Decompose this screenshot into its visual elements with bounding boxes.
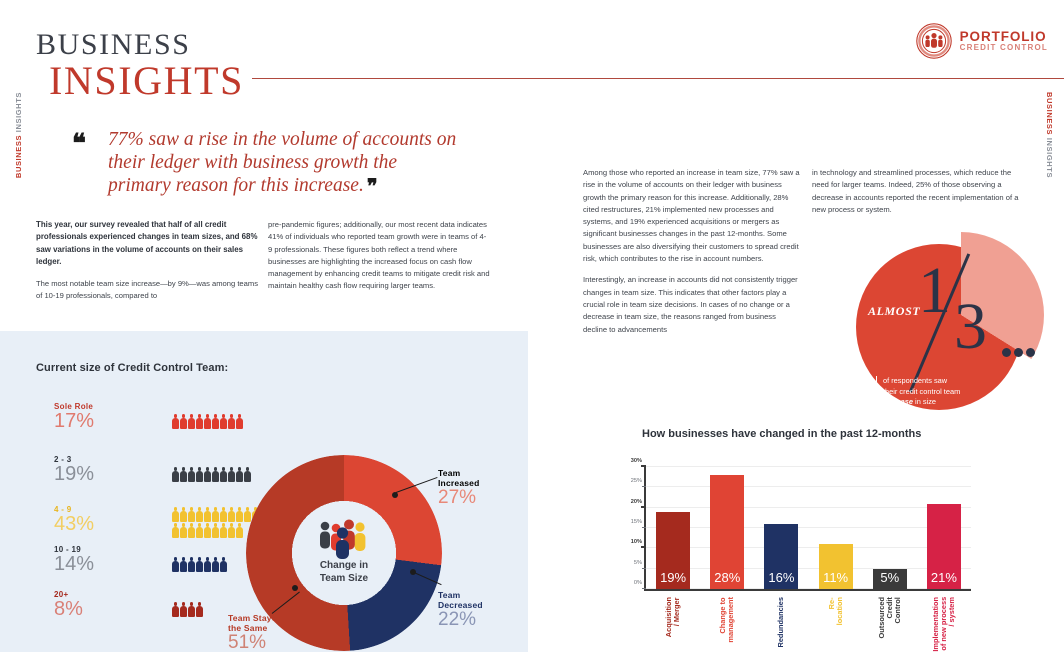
panel-title: Current size of Credit Control Team: <box>36 361 228 375</box>
bar-category-label: Outsourced Credit Control <box>878 597 902 638</box>
pictogram-row-value: 17% <box>54 411 94 432</box>
pictogram-row: 10 - 1914% <box>54 545 94 575</box>
pictogram-row-value: 43% <box>54 514 94 535</box>
y-axis-tick-label: 20% <box>631 499 642 505</box>
person-icon <box>188 602 195 617</box>
bar-value-label: 21% <box>927 570 961 585</box>
person-icon <box>180 557 187 572</box>
callout-decreased-value: 22% <box>438 610 483 631</box>
page-title-line2: INSIGHTS <box>49 57 244 104</box>
callout-stayed-label: Team Stayed the Same <box>228 613 282 633</box>
bar-value-label: 16% <box>764 570 798 585</box>
person-icon <box>204 414 211 429</box>
person-icon <box>220 557 227 572</box>
bar-value-label: 11% <box>819 570 853 585</box>
pull-quote-text: 77% saw a rise in the volume of accounts… <box>78 128 458 200</box>
person-icon <box>180 523 187 538</box>
person-icon <box>172 414 179 429</box>
person-icon <box>172 523 179 538</box>
side-tab-right-bold: BUSINESS <box>1045 92 1054 135</box>
pictogram-row-value: 8% <box>54 599 83 620</box>
pictogram-figures <box>172 414 276 429</box>
paragraph-col3-2: Interestingly, an increase in accounts d… <box>583 274 801 335</box>
person-icon <box>188 414 195 429</box>
pictogram-row: 2 - 319% <box>54 455 94 485</box>
person-icon <box>212 523 219 538</box>
person-icon <box>220 414 227 429</box>
callout-stayed-value: 51% <box>228 633 282 652</box>
pull-quote: ❝ 77% saw a rise in the volume of accoun… <box>78 128 458 200</box>
pictogram-row: 4 - 943% <box>54 505 94 535</box>
bar-slot: 21%Implementation of new process / syste… <box>917 467 971 589</box>
side-tab-left-regular: INSIGHTS <box>14 92 23 132</box>
quote-close-mark: ❞ <box>367 176 378 198</box>
donut-center-line1: Change in <box>320 560 368 573</box>
bar-chart: 0%5%10%15%20%25%30% 19%Acquisition / Mer… <box>607 467 971 607</box>
bar-slot: 19%Acquisition / Merger <box>646 467 700 589</box>
pictogram-row-value: 19% <box>54 464 94 485</box>
bar-category-label: Implementation of new process / system <box>932 597 956 652</box>
person-icon <box>212 467 219 482</box>
logo-wordmark: PORTFOLIO CREDIT CONTROL <box>960 30 1048 53</box>
callout-decreased-label: Team Decreased <box>438 590 483 610</box>
person-icon <box>228 467 235 482</box>
callout-decreased-line1: Team <box>438 590 460 600</box>
logo-title: PORTFOLIO <box>960 30 1048 44</box>
person-icon <box>204 467 211 482</box>
bar-slot: 11%Re-location <box>809 467 863 589</box>
person-icon <box>172 602 179 617</box>
person-icon <box>196 467 203 482</box>
pull-quote-body: 77% saw a rise in the volume of accounts… <box>108 129 456 196</box>
y-axis-tick-label: 15% <box>631 519 642 525</box>
person-icon <box>236 467 243 482</box>
donut-center-label: Change in Team Size <box>320 560 368 585</box>
brand-logo: PORTFOLIO CREDIT CONTROL <box>915 22 1048 60</box>
person-icon <box>236 507 243 522</box>
bar-value-label: 28% <box>710 570 744 585</box>
person-icon <box>172 507 179 522</box>
callout-increased-line1: Team <box>438 468 460 478</box>
y-axis-tick-label: 0% <box>634 580 642 586</box>
body-column-1: This year, our survey revealed that half… <box>36 219 258 303</box>
person-icon <box>204 557 211 572</box>
bar[interactable]: 19% <box>656 512 690 589</box>
leader-dot-increased <box>392 492 398 498</box>
bar[interactable]: 11% <box>819 544 853 589</box>
pictogram-row: Sole Role17% <box>54 402 94 432</box>
pie-caption-line2: their credit control team <box>883 387 960 396</box>
pie-caption-emphasis: increase <box>883 397 913 406</box>
bar-slot: 16%Redundancies <box>754 467 808 589</box>
paragraph-col4-1: in technology and streamlined processes,… <box>812 167 1030 216</box>
side-tab-right-regular: INSIGHTS <box>1045 138 1054 178</box>
person-icon <box>236 414 243 429</box>
bar-category-label: Re-location <box>827 597 843 625</box>
callout-team-stayed: Team Stayed the Same 51% <box>228 613 282 652</box>
person-icon <box>172 557 179 572</box>
person-icon <box>220 523 227 538</box>
person-icon <box>196 507 203 522</box>
pie-almost-label: ALMOST <box>868 304 920 319</box>
lead-paragraph: This year, our survey revealed that half… <box>36 219 258 269</box>
y-axis-tick-label: 30% <box>631 458 642 464</box>
y-axis-tick-label: 10% <box>631 539 642 545</box>
callout-increased-value: 27% <box>438 488 480 509</box>
pie-numerator: 1 <box>918 258 951 324</box>
callout-team-decreased: Team Decreased 22% <box>438 590 483 631</box>
bar-category-label: Change to management <box>719 597 735 643</box>
bar-slot: 5%Outsourced Credit Control <box>863 467 917 589</box>
person-icon <box>196 523 203 538</box>
callout-stayed-line1: Team Stayed <box>228 613 282 623</box>
person-icon <box>180 507 187 522</box>
donut-hole: Change in Team Size <box>292 501 396 605</box>
y-axis-tick-label: 5% <box>634 560 642 566</box>
bar[interactable]: 21% <box>927 504 961 589</box>
bar[interactable]: 28% <box>710 475 744 589</box>
person-icon <box>180 602 187 617</box>
magazine-spread: BUSINESS INSIGHTS BUSINESS INSIGHTS BUSI… <box>0 0 1064 652</box>
donut-center-line2: Team Size <box>320 573 368 586</box>
portfolio-badge-icon <box>915 22 953 60</box>
one-third-pie-graphic: ALMOST 1 3 of respondents saw their cred… <box>856 232 1040 428</box>
callout-team-increased: Team Increased 27% <box>438 468 480 509</box>
leader-dot-stayed <box>292 585 298 591</box>
person-icon <box>212 507 219 522</box>
bar-chart-title: How businesses have changed in the past … <box>642 427 921 441</box>
people-group-icon <box>316 517 372 559</box>
pictogram-row: 20+8% <box>54 590 83 620</box>
bar-category-label: Redundancies <box>777 597 785 648</box>
pie-ellipsis-dots <box>1002 348 1035 357</box>
bar[interactable]: 16% <box>764 524 798 589</box>
person-icon <box>204 523 211 538</box>
bar-series: 19%Acquisition / Merger28%Change to mana… <box>646 467 971 589</box>
person-icon <box>188 523 195 538</box>
bar-category-label: Acquisition / Merger <box>665 597 681 637</box>
person-icon <box>204 507 211 522</box>
person-icon <box>196 557 203 572</box>
side-tab-right: BUSINESS INSIGHTS <box>1046 92 1054 178</box>
person-icon <box>196 602 203 617</box>
body-column-3: Among those who reported an increase in … <box>583 167 801 336</box>
person-icon <box>212 414 219 429</box>
pictogram-row-value: 14% <box>54 554 94 575</box>
person-icon <box>180 414 187 429</box>
person-icon <box>188 557 195 572</box>
person-icon <box>228 414 235 429</box>
person-icon <box>188 467 195 482</box>
person-icon <box>220 507 227 522</box>
paragraph-col3-1: Among those who reported an increase in … <box>583 167 801 265</box>
callout-increased-label: Team Increased <box>438 468 480 488</box>
person-icon <box>228 507 235 522</box>
side-tab-left-bold: BUSINESS <box>14 135 23 178</box>
quote-open-mark: ❝ <box>72 131 86 157</box>
paragraph-col2-1: pre-pandemic figures; additionally, our … <box>268 219 490 293</box>
pie-caption-line1: of respondents saw <box>883 376 947 385</box>
logo-subtitle: CREDIT CONTROL <box>960 44 1048 52</box>
bar-plot-area: 0%5%10%15%20%25%30% 19%Acquisition / Mer… <box>644 467 971 591</box>
person-icon <box>188 507 195 522</box>
bar[interactable]: 5% <box>873 569 907 589</box>
person-icon <box>236 523 243 538</box>
bar-value-label: 5% <box>873 570 907 585</box>
pie-denominator: 3 <box>954 294 987 360</box>
person-icon <box>196 414 203 429</box>
person-icon <box>220 467 227 482</box>
y-axis-tick-label: 25% <box>631 478 642 484</box>
body-column-2: pre-pandemic figures; additionally, our … <box>268 219 490 293</box>
pie-caption-line3: in size <box>913 397 936 406</box>
pie-caption: of respondents saw their credit control … <box>876 376 996 408</box>
body-column-4: in technology and streamlined processes,… <box>812 167 1030 216</box>
header-divider <box>252 78 1064 79</box>
person-icon <box>172 467 179 482</box>
bar-value-label: 19% <box>656 570 690 585</box>
person-icon <box>180 467 187 482</box>
side-tab-left: BUSINESS INSIGHTS <box>15 92 23 178</box>
person-icon <box>228 523 235 538</box>
paragraph-col1-2: The most notable team size increase—by 9… <box>36 278 258 303</box>
bar-slot: 28%Change to management <box>700 467 754 589</box>
person-icon <box>212 557 219 572</box>
